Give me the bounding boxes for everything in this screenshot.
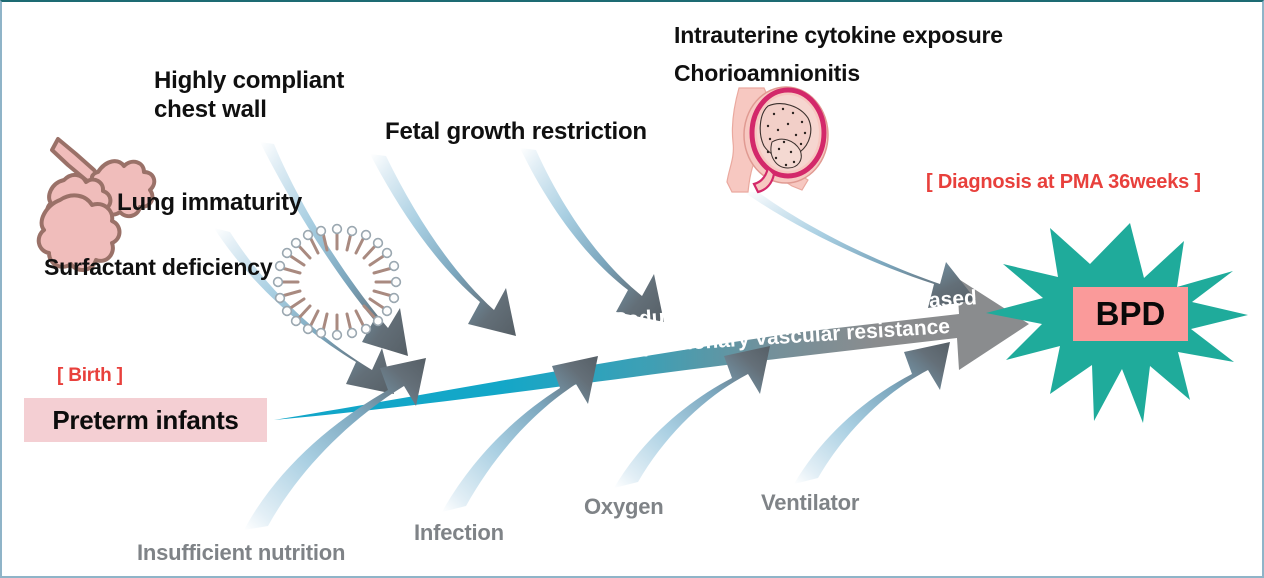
label-fetal-growth-restriction: Fetal growth restriction	[385, 117, 647, 146]
label-birth-timepoint: [ Birth ]	[57, 364, 123, 387]
label-oxygen: Oxygen	[584, 494, 664, 521]
label-lung-immaturity: Lung immaturity	[117, 188, 302, 217]
diagram-canvas: Highly compliant chest wall Fetal growth…	[0, 0, 1264, 578]
surfactant-micelle-icon	[274, 225, 401, 340]
label-infection: Infection	[414, 520, 504, 547]
arrow-fetal-growth-right	[520, 148, 664, 322]
preterm-infants-box: Preterm infants	[24, 398, 267, 442]
label-insufficient-nutrition: Insufficient nutrition	[137, 540, 345, 567]
bpd-outcome-box: BPD	[1073, 287, 1188, 341]
preterm-infants-label: Preterm infants	[52, 405, 238, 436]
arrow-ventilator	[794, 342, 950, 484]
arrow-insufficient-nutrition	[244, 358, 426, 530]
arrow-chorioamnionitis	[744, 192, 976, 308]
label-ventilator: Ventilator	[761, 490, 859, 517]
label-highly-compliant-chest-wall: Highly compliant chest wall	[154, 66, 344, 125]
pregnant-uterus-icon	[727, 87, 828, 192]
label-surfactant-deficiency: Surfactant deficiency	[44, 253, 272, 281]
label-chorioamnionitis: Chorioamnionitis	[674, 59, 860, 87]
label-intrauterine-cytokine-exposure: Intrauterine cytokine exposure	[674, 21, 1003, 49]
bpd-label: BPD	[1096, 295, 1166, 333]
arrow-fetal-growth-left	[370, 154, 516, 336]
label-diagnosis-timepoint: [ Diagnosis at PMA 36weeks ]	[926, 170, 1201, 194]
